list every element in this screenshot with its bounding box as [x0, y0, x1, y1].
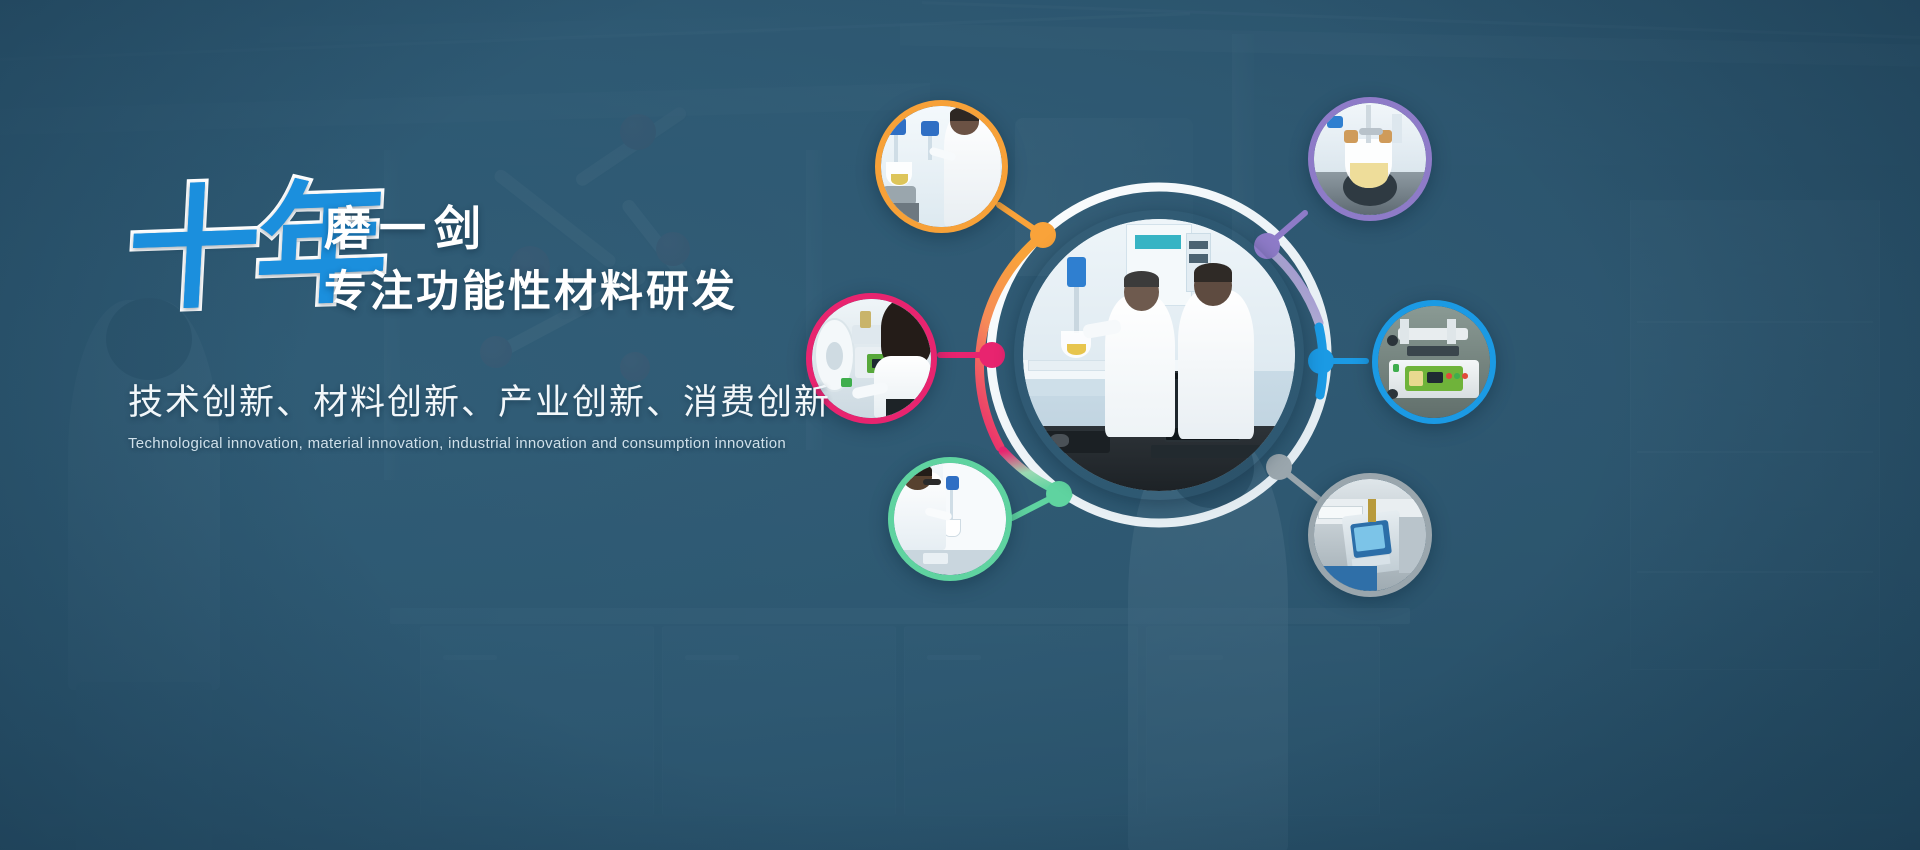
subtitle-english: Technological innovation, material innov…	[128, 435, 848, 452]
node-photo-blue	[1372, 300, 1496, 424]
hero-photo	[1014, 210, 1304, 500]
headline-line-2: 专注功能性材料研发	[324, 265, 738, 321]
node-photo-purple	[1308, 97, 1432, 221]
headline-line-1: 磨一剑	[324, 200, 738, 257]
headline-lines: 磨一剑 专注功能性材料研发	[324, 200, 738, 321]
joint-blue	[1308, 348, 1334, 374]
radial-node-diagram	[800, 95, 1920, 735]
node-photo-orange	[875, 100, 1008, 233]
headline-group: 十年 十年 磨一剑 专注功能性材料研发	[128, 182, 848, 352]
joint-pink	[979, 342, 1005, 368]
hero-banner: 十年 十年 磨一剑 专注功能性材料研发 技术创新、材料创新、产业创新、消费创新 …	[0, 0, 1920, 850]
subtitle-chinese: 技术创新、材料创新、产业创新、消费创新	[128, 374, 848, 425]
node-photo-green	[888, 457, 1012, 581]
node-photo-gray	[1308, 473, 1432, 597]
hero-copy: 十年 十年 磨一剑 专注功能性材料研发 技术创新、材料创新、产业创新、消费创新 …	[128, 182, 848, 452]
